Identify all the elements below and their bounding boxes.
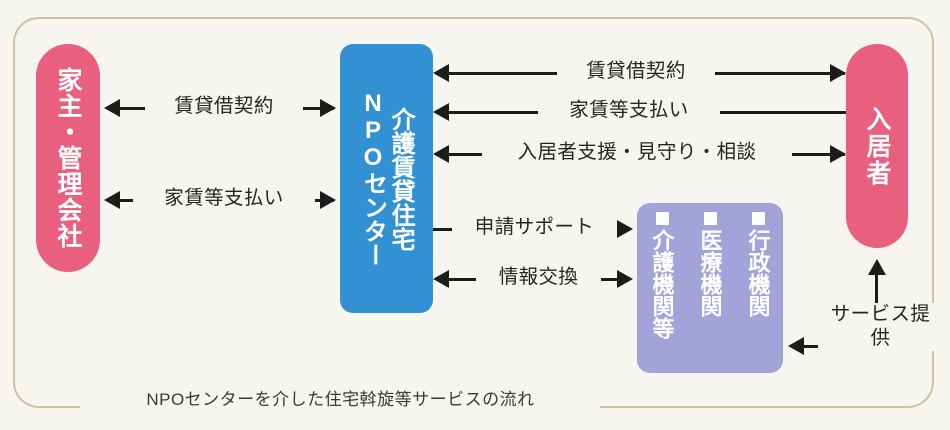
node-npo-sub-label: NPOセンター	[360, 90, 386, 267]
arrowhead-right-icon	[617, 220, 633, 238]
arrowhead-up-icon	[868, 259, 886, 275]
square-bullet-icon	[704, 212, 717, 225]
arrowhead-left-icon	[433, 270, 449, 288]
arrowhead-left-icon	[433, 103, 449, 121]
agency-label-0: 行政機関	[746, 229, 769, 317]
agency-label-1: 医療機関	[698, 229, 721, 317]
arrowhead-right-icon	[320, 191, 336, 209]
flow-label: 情報交換	[476, 268, 601, 288]
agency-item-0: 行政機関	[736, 212, 781, 317]
arrowhead-right-icon	[830, 145, 846, 163]
arrowhead-left-icon	[788, 337, 804, 355]
node-owner-label: 家主・管理会社	[54, 67, 82, 249]
flow-label: 賃貸借契約	[557, 62, 715, 82]
arrowhead-left-icon	[104, 191, 120, 209]
square-bullet-icon	[752, 212, 765, 225]
flow-label: 申請サポート	[452, 218, 617, 238]
diagram-canvas: NPOセンターを介した住宅斡旋等サービスの流れ 家主・管理会社 介護賃貸住宅 N…	[0, 0, 950, 430]
arrowhead-left-icon	[433, 145, 449, 163]
arrowhead-right-icon	[320, 99, 336, 117]
flow-label: サービス提供	[818, 303, 943, 351]
node-resident: 入居者	[846, 44, 908, 248]
diagram-caption: NPOセンターを介した住宅斡旋等サービスの流れ	[88, 387, 593, 413]
flow-label: 入居者支援・見守り・相談	[482, 143, 792, 163]
node-owner: 家主・管理会社	[36, 44, 100, 272]
flow-label: 家賃等支払い	[538, 101, 720, 121]
node-npo-main-label: 介護賃貸住宅	[388, 107, 414, 251]
arrowhead-right-icon	[830, 64, 846, 82]
arrowhead-right-icon	[617, 270, 633, 288]
square-bullet-icon	[656, 212, 669, 225]
agency-item-1: 医療機関	[688, 212, 733, 317]
agency-label-2: 介護機関等	[650, 229, 673, 339]
node-npo-center: 介護賃貸住宅 NPOセンター	[340, 44, 433, 313]
flow-label: 家賃等支払い	[133, 189, 315, 209]
node-resident-label: 入居者	[863, 106, 891, 187]
node-agencies: 行政機関 医療機関 介護機関等	[637, 203, 783, 373]
arrowhead-left-icon	[433, 64, 449, 82]
agency-item-2: 介護機関等	[640, 212, 685, 339]
arrowhead-left-icon	[104, 99, 120, 117]
flow-label: 賃貸借契約	[145, 97, 303, 117]
